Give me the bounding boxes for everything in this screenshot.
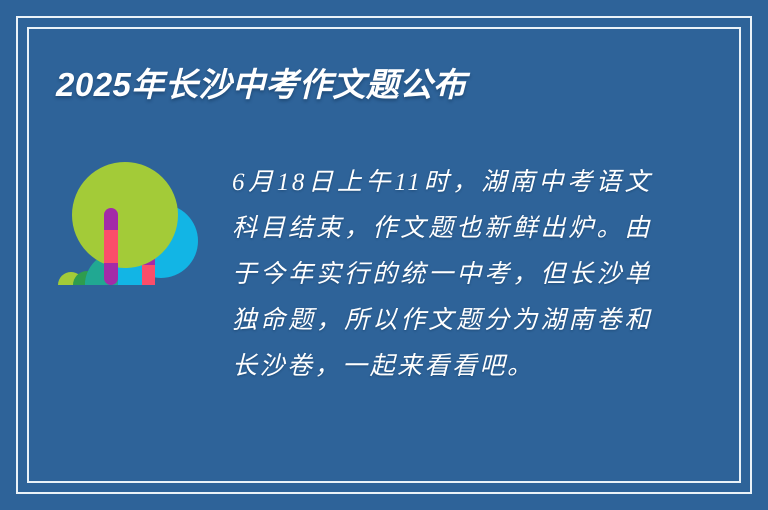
body-paragraph: 6月18日上午11时，湖南中考语文科目结束，作文题也新鲜出炉。由于今年实行的统一… bbox=[232, 160, 652, 390]
tree-left-canopy-icon bbox=[72, 162, 178, 268]
tree-right-trunk-lower-icon bbox=[142, 265, 155, 285]
page-title: 2025年长沙中考作文题公布 bbox=[56, 64, 466, 106]
body-copy: 6月18日上午11时，湖南中考语文科目结束，作文题也新鲜出炉。由于今年实行的统一… bbox=[232, 160, 652, 390]
tree-left-trunk-lower-icon bbox=[104, 230, 118, 263]
trees-and-bushes-illustration bbox=[55, 155, 205, 300]
poster-canvas: 2025年长沙中考作文题公布 6月18日上午11时，湖南中考语文科目结束，作文题… bbox=[0, 0, 768, 510]
